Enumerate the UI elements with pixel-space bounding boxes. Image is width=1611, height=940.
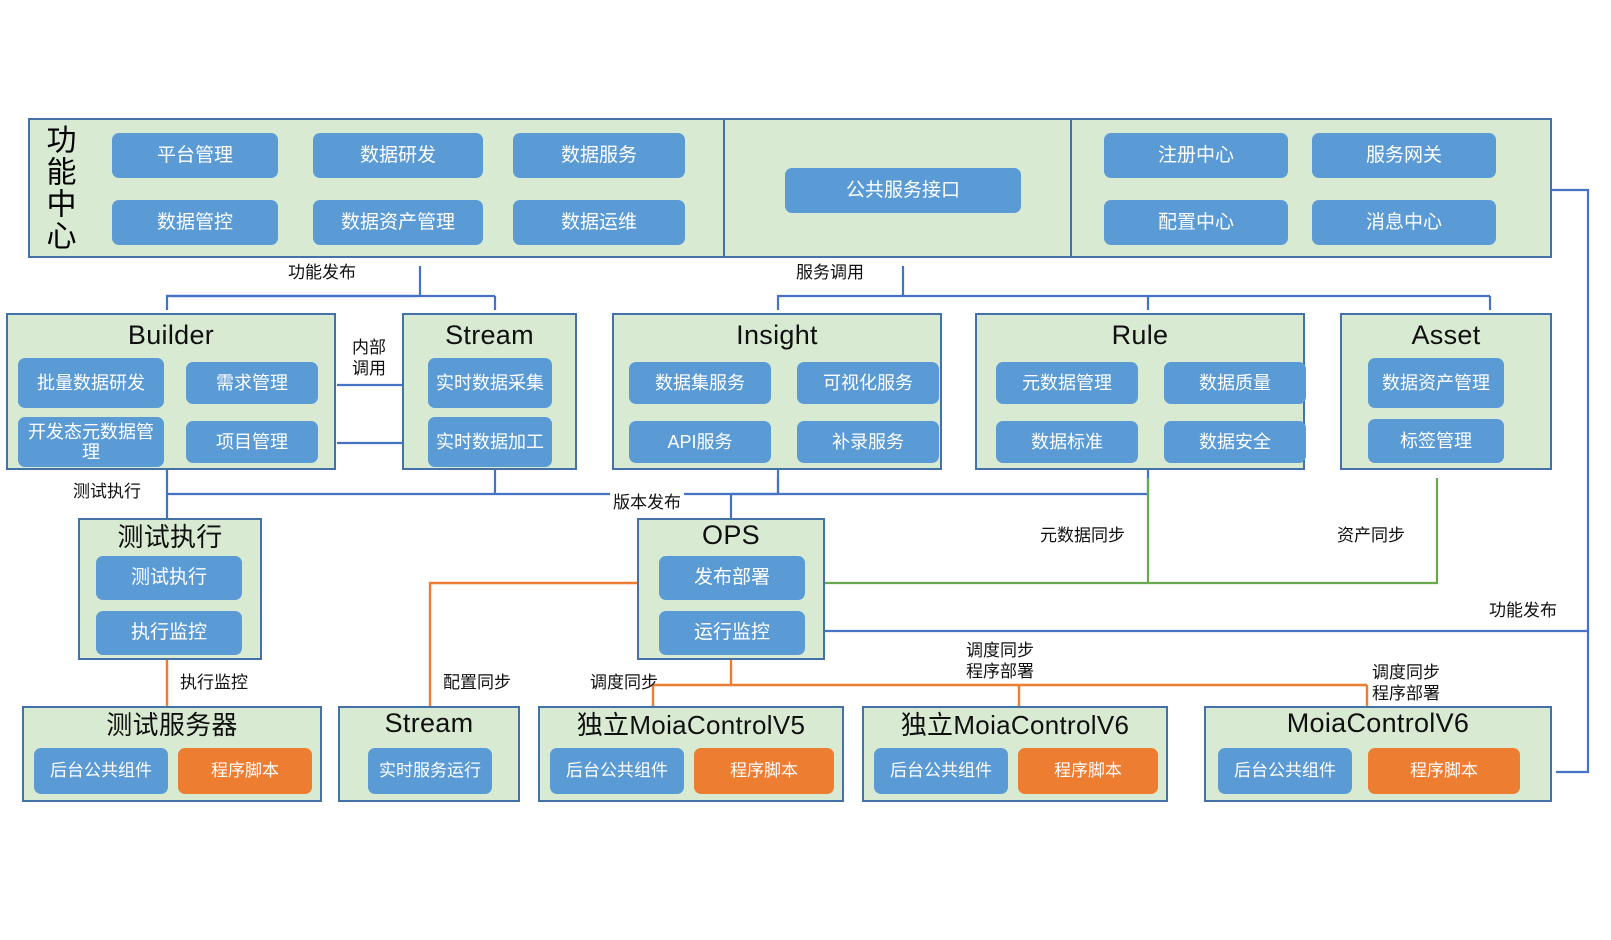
label-schedule-sync-deploy-1: 调度同步 程序部署 xyxy=(966,640,1034,683)
chip-data-quality[interactable]: 数据质量 xyxy=(1164,362,1306,404)
panel-builder-title: Builder xyxy=(6,322,336,349)
divider-2 xyxy=(1070,119,1072,257)
chip-realtime-process[interactable]: 实时数据加工 xyxy=(428,417,552,467)
chip-dev-metadata-mgmt[interactable]: 开发态元数据管理 xyxy=(18,417,164,467)
panel-test-execution-title: 测试执行 xyxy=(78,524,262,550)
panel-test-server-title: 测试服务器 xyxy=(22,712,322,738)
chip-backend-common-2[interactable]: 后台公共组件 xyxy=(550,748,684,794)
panel-moiacontrolv5-title: 独立MoiaControlV5 xyxy=(538,712,844,738)
chip-visual-service[interactable]: 可视化服务 xyxy=(797,362,939,404)
chip-program-script-3[interactable]: 程序脚本 xyxy=(1018,748,1158,794)
label-test-execute: 测试执行 xyxy=(70,481,144,502)
chip-data-service[interactable]: 数据服务 xyxy=(513,133,685,178)
chip-data-standard[interactable]: 数据标准 xyxy=(996,421,1138,463)
chip-data-ops[interactable]: 数据运维 xyxy=(513,200,685,245)
chip-exec-monitor[interactable]: 执行监控 xyxy=(96,611,242,655)
chip-public-service-api[interactable]: 公共服务接口 xyxy=(785,168,1021,213)
chip-data-dev[interactable]: 数据研发 xyxy=(313,133,483,178)
chip-api-service[interactable]: API服务 xyxy=(629,421,771,463)
chip-program-script-2[interactable]: 程序脚本 xyxy=(694,748,834,794)
chip-dataset-service[interactable]: 数据集服务 xyxy=(629,362,771,404)
chip-program-script-0[interactable]: 程序脚本 xyxy=(178,748,312,794)
label-schedule-sync: 调度同步 xyxy=(590,672,658,693)
chip-backend-common-3[interactable]: 后台公共组件 xyxy=(874,748,1008,794)
panel-stream-server-title: Stream xyxy=(338,710,520,737)
label-schedule-sync-deploy-2: 调度同步 程序部署 xyxy=(1372,662,1440,705)
label-service-call: 服务调用 xyxy=(796,262,864,283)
label-function-publish-top: 功能发布 xyxy=(288,262,356,283)
chip-data-asset-mgmt[interactable]: 数据资产管理 xyxy=(313,200,483,245)
panel-moiacontrolv6-standalone-title: 独立MoiaControlV6 xyxy=(862,712,1168,738)
chip-program-script-4[interactable]: 程序脚本 xyxy=(1368,748,1520,794)
label-function-publish-right: 功能发布 xyxy=(1489,600,1557,621)
label-internal-call: 内部 调用 xyxy=(344,337,394,380)
panel-ops-title: OPS xyxy=(637,522,825,549)
chip-tag-mgmt[interactable]: 标签管理 xyxy=(1368,419,1504,463)
chip-data-governance[interactable]: 数据管控 xyxy=(112,200,278,245)
chip-message-center[interactable]: 消息中心 xyxy=(1312,200,1496,245)
panel-asset-title: Asset xyxy=(1340,322,1552,349)
chip-project-mgmt[interactable]: 项目管理 xyxy=(186,421,318,463)
chip-backend-common-4[interactable]: 后台公共组件 xyxy=(1218,748,1352,794)
chip-metadata-mgmt[interactable]: 元数据管理 xyxy=(996,362,1138,404)
chip-service-gateway[interactable]: 服务网关 xyxy=(1312,133,1496,178)
label-metadata-sync: 元数据同步 xyxy=(1040,525,1125,546)
chip-data-asset-management[interactable]: 数据资产管理 xyxy=(1368,358,1504,408)
divider-1 xyxy=(723,119,725,257)
chip-demand-mgmt[interactable]: 需求管理 xyxy=(186,362,318,404)
panel-rule-title: Rule xyxy=(975,322,1305,349)
chip-test-execute[interactable]: 测试执行 xyxy=(96,556,242,600)
chip-batch-data-dev[interactable]: 批量数据研发 xyxy=(18,358,164,408)
chip-realtime-collect[interactable]: 实时数据采集 xyxy=(428,358,552,408)
chip-runtime-monitor[interactable]: 运行监控 xyxy=(659,611,805,655)
panel-stream-title: Stream xyxy=(402,322,577,349)
chip-platform-mgmt[interactable]: 平台管理 xyxy=(112,133,278,178)
chip-backend-common-0[interactable]: 后台公共组件 xyxy=(34,748,168,794)
panel-insight-title: Insight xyxy=(612,322,942,349)
chip-realtime-service-run[interactable]: 实时服务运行 xyxy=(368,748,492,794)
label-version-publish: 版本发布 xyxy=(610,492,684,513)
architecture-diagram: 功能中心 平台管理 数据研发 数据服务 数据管控 数据资产管理 数据运维 公共服… xyxy=(0,0,1611,940)
label-exec-monitor: 执行监控 xyxy=(180,672,248,693)
chip-config-center[interactable]: 配置中心 xyxy=(1104,200,1288,245)
label-config-sync: 配置同步 xyxy=(443,672,511,693)
chip-data-security[interactable]: 数据安全 xyxy=(1164,421,1306,463)
label-asset-sync: 资产同步 xyxy=(1337,525,1405,546)
chip-registry-center[interactable]: 注册中心 xyxy=(1104,133,1288,178)
panel-moiacontrolv6-title: MoiaControlV6 xyxy=(1204,710,1552,737)
function-center-label: 功能中心 xyxy=(42,124,74,252)
chip-release-deploy[interactable]: 发布部署 xyxy=(659,556,805,600)
chip-supplement-service[interactable]: 补录服务 xyxy=(797,421,939,463)
